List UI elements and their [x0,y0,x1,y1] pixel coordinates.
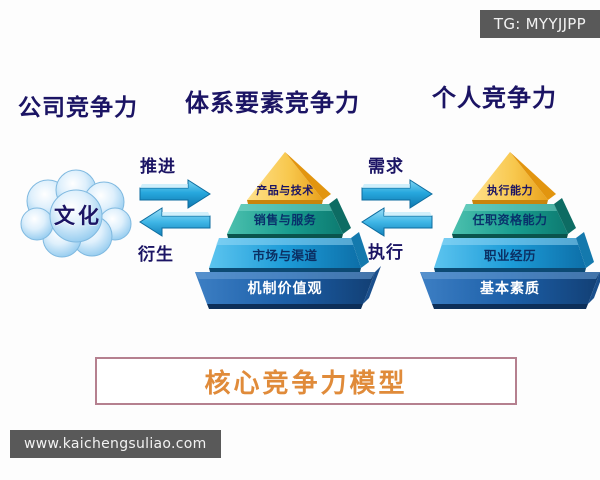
heading-system-factor-competitiveness: 体系要素竞争力 [185,83,360,118]
telegram-watermark-badge: TG: MYYJJPP [480,10,600,38]
pyramid-level-label: 任职资格能力 [472,211,547,228]
culture-cloud: 文化 [14,168,142,262]
pyramid-system-factors: 产品与技术 销售与服务 市场与渠道 机制价值观 [185,146,385,316]
website-watermark-badge: www.kaichengsuliao.com [10,430,221,458]
model-title-box: 核心竞争力模型 [95,357,517,405]
pyramid-level-label: 销售与服务 [254,211,317,228]
arrow-label-yansheng: 衍生 [138,240,174,265]
pyramid-level-label: 职业经历 [484,245,536,264]
culture-cloud-label: 文化 [14,168,142,262]
pyramid-personal: 执行能力 任职资格能力 职业经历 基本素质 [410,146,600,316]
arrow-label-tuijin: 推进 [140,152,176,177]
pyramid-level-label: 机制价值观 [248,278,323,298]
pyramid-level-label: 基本素质 [480,278,540,298]
heading-personal-competitiveness: 个人竞争力 [432,78,557,113]
model-title-text: 核心竞争力模型 [204,363,407,400]
pyramid-level-label: 产品与技术 [256,182,314,198]
pyramid-level-label: 执行能力 [487,182,533,198]
pyramid-level-label: 市场与渠道 [252,245,317,264]
diagram-canvas: TG: MYYJJPP www.kaichengsuliao.com 公司竞争力… [0,0,600,480]
heading-company-competitiveness: 公司竞争力 [18,88,138,122]
